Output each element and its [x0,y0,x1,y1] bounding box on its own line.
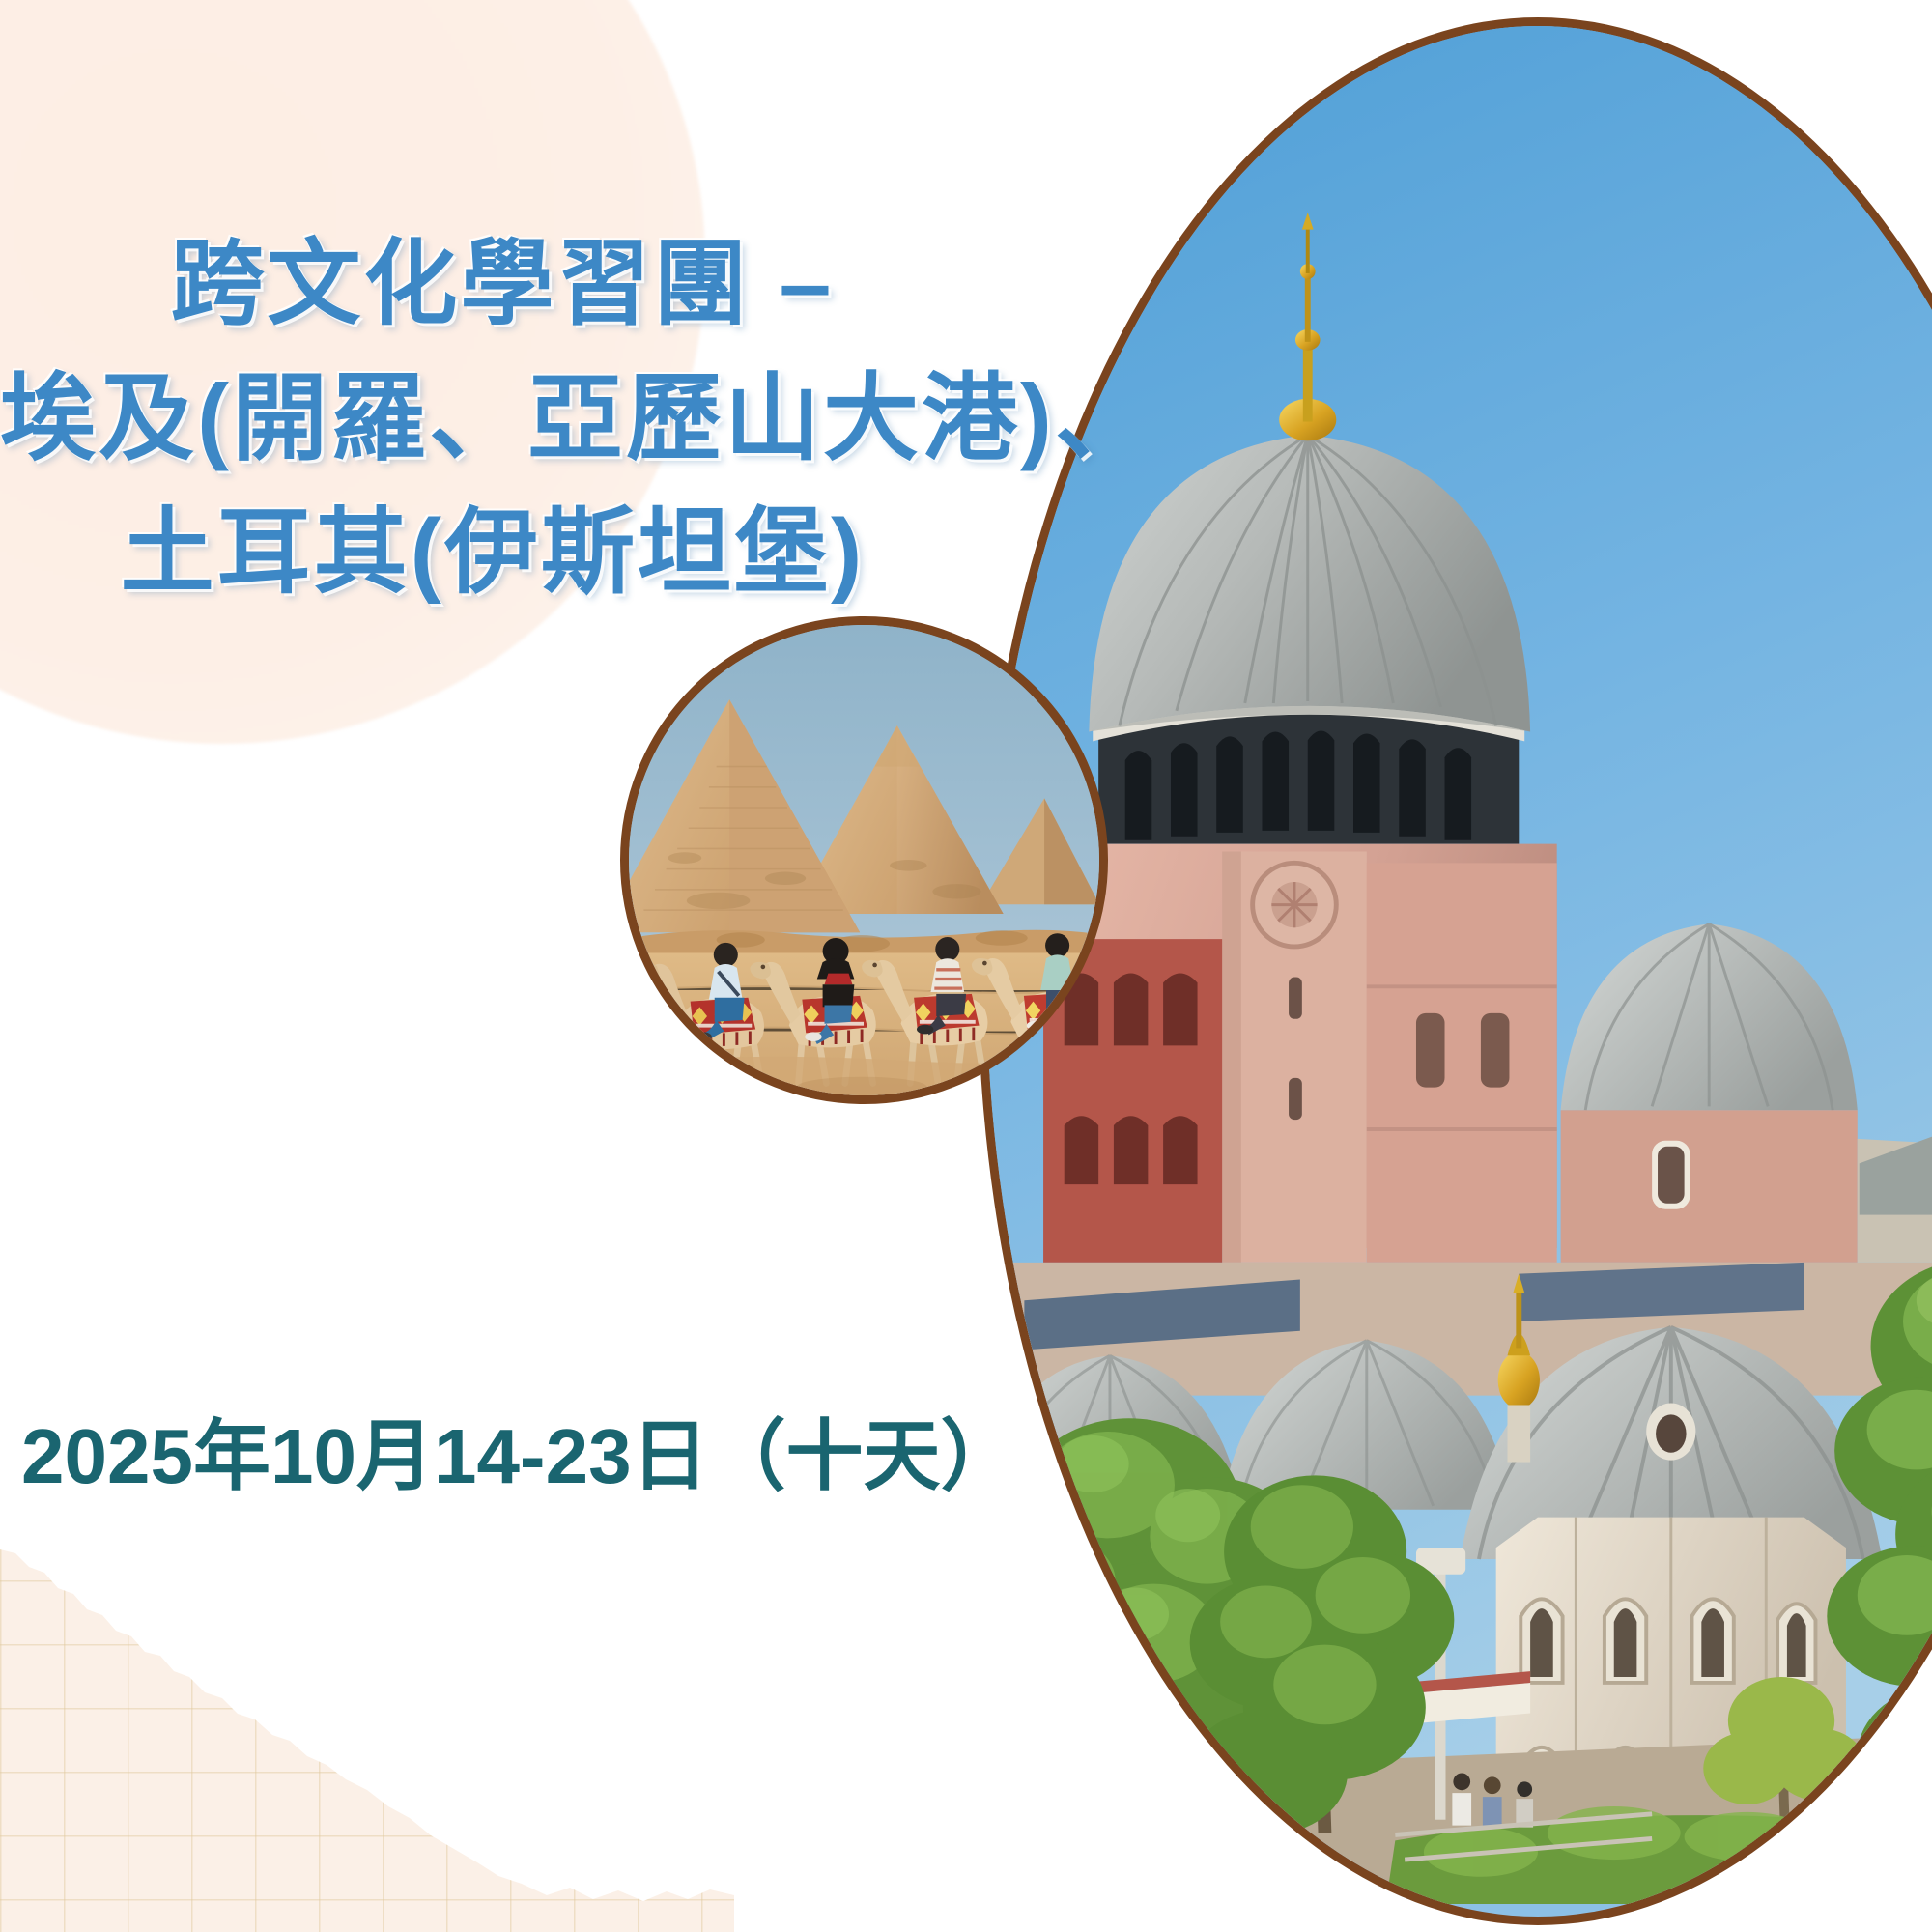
pyramids-camels-photo [620,616,1108,1104]
headline-line-3: 土耳其(伊斯坦堡) [0,486,976,619]
headline-line-2: 埃及(開羅、亞歷山大港)、 [0,351,976,487]
pyramids-camels-illustration [629,625,1099,1095]
poster-canvas: 跨文化學習團 – 埃及(開羅、亞歷山大港)、 土耳其(伊斯坦堡) 2025年10… [0,0,1932,1932]
hagia-sophia-illustration [986,26,1932,1904]
poster-headline: 跨文化學習團 – 埃及(開羅、亞歷山大港)、 土耳其(伊斯坦堡) [0,217,976,619]
hagia-sophia-photo [978,17,1932,1925]
torn-graph-paper-decoration [0,1517,734,1932]
headline-line-1: 跨文化學習團 – [0,217,976,351]
tour-date-text: 2025年10月14-23日（十天） [21,1394,1018,1506]
